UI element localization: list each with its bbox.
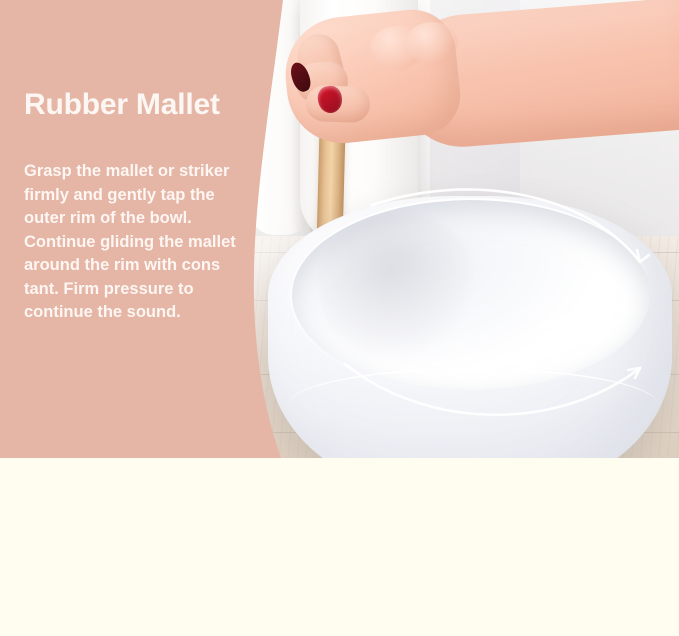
page-title: Rubber Mallet [24, 88, 220, 122]
panel-text-block: Rubber Mallet Grasp the mallet or strike… [0, 0, 252, 458]
tips-section: TIPS When playing the crystal singing bo… [0, 458, 679, 636]
panel-description: Grasp the mallet or striker firmly and g… [24, 160, 236, 325]
product-photo: Rubber Mallet Grasp the mallet or strike… [0, 0, 679, 458]
instruction-card: Rubber Mallet Grasp the mallet or strike… [0, 0, 679, 636]
